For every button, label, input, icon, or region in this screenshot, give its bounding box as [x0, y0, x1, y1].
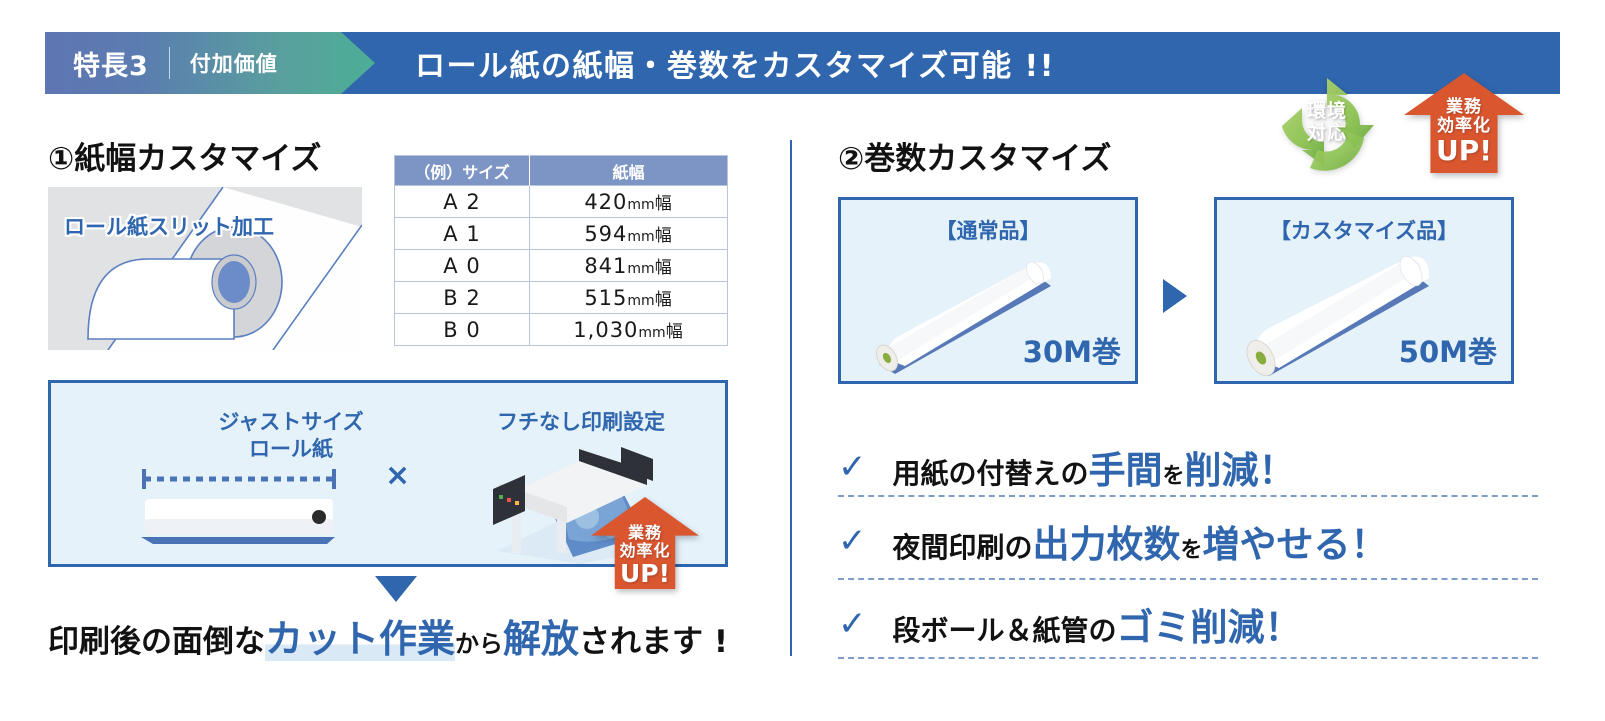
benefit-item-3: ✓ 段ボール＆紙管のゴミ削減！ — [838, 589, 1538, 659]
column-header-width: 紙幅 — [530, 156, 728, 186]
feature-number-label: 特長3 — [73, 44, 149, 83]
width-unit: mm — [638, 325, 665, 341]
cell-size: A 0 — [395, 250, 530, 282]
just-size-line1: ジャストサイズ — [218, 410, 363, 434]
check-icon: ✓ — [838, 524, 867, 558]
table-body: A 2420mm幅A 1594mm幅A 0841mm幅B 2515mm幅B 01… — [395, 186, 728, 346]
up-left-line2: 効率化 — [619, 542, 670, 560]
cell-size: A 2 — [395, 186, 530, 218]
feature-tag: 特長3 付加価値 — [45, 32, 375, 94]
width-unit: mm — [627, 197, 654, 213]
borderless-print-label: フチなし印刷設定 — [451, 409, 711, 436]
just-size-roll-label: ジャストサイズ ロール紙 — [181, 409, 401, 464]
benefit-1-pre: 用紙の付替えの — [893, 457, 1089, 490]
product-length-standard: 30M巻 — [1023, 329, 1121, 371]
width-value: 841 — [584, 254, 627, 278]
width-unit: mm — [627, 229, 654, 245]
product-title-customized: 【カスタマイズ品】 — [1217, 215, 1511, 245]
conclusion-highlight1: カット作業 — [265, 617, 455, 661]
benefit-3-hl1: ゴミ削減！ — [1117, 606, 1302, 649]
section-2-heading: ②巻数カスタマイズ — [838, 133, 1111, 178]
cell-width: 841mm幅 — [530, 250, 728, 282]
benefit-item-1: ✓ 用紙の付替えの手間を削減！ — [838, 432, 1538, 502]
roll-photo-label: ロール紙スリット加工 — [64, 211, 274, 241]
width-suffix: 幅 — [655, 194, 673, 214]
benefit-1-hl2: 削減！ — [1185, 449, 1296, 492]
table-row: B 01,030mm幅 — [395, 314, 728, 346]
column-header-size: （例）サイズ — [395, 156, 530, 186]
cell-width: 1,030mm幅 — [530, 314, 728, 346]
benefit-divider-2 — [838, 578, 1538, 580]
up-badge-left: 業務 効率化 UP! — [591, 497, 699, 589]
cell-width: 420mm幅 — [530, 186, 728, 218]
section-1-conclusion: 印刷後の面倒なカット作業から解放されます ! — [48, 608, 758, 663]
table-row: A 2420mm幅 — [395, 186, 728, 218]
up-right-line1: 業務 — [1446, 99, 1482, 117]
benefit-text-3: 段ボール＆紙管のゴミ削減！ — [893, 597, 1302, 651]
width-unit: mm — [627, 293, 654, 309]
up-right-line3: UP! — [1436, 137, 1492, 165]
conclusion-part3: されます ! — [579, 624, 728, 660]
product-title-standard: 【通常品】 — [841, 215, 1135, 245]
cell-width: 515mm幅 — [530, 282, 728, 314]
up-badge-text: 業務 効率化 UP! — [1404, 73, 1524, 173]
check-icon: ✓ — [838, 607, 867, 641]
eco-badge: 環境 対応 — [1268, 70, 1386, 176]
width-suffix: 幅 — [655, 226, 673, 246]
product-box-standard: 【通常品】 30M巻 — [838, 197, 1138, 384]
product-box-customized: 【カスタマイズ品】 50M巻 — [1214, 197, 1514, 384]
up-left-line1: 業務 — [628, 525, 662, 542]
up-left-line3: UP! — [620, 561, 670, 586]
width-suffix: 幅 — [655, 290, 673, 310]
benefit-1-mid: を — [1163, 464, 1185, 489]
eco-line1: 環境 — [1307, 101, 1347, 123]
tag-divider — [169, 47, 170, 79]
up-badge-text: 業務 効率化 UP! — [591, 497, 699, 589]
width-suffix: 幅 — [666, 322, 684, 342]
paper-size-table: （例）サイズ 紙幅 A 2420mm幅A 1594mm幅A 0841mm幅B 2… — [394, 155, 728, 346]
up-badge-right: 業務 効率化 UP! — [1404, 73, 1524, 173]
benefit-3-pre: 段ボール＆紙管の — [893, 614, 1117, 647]
width-value: 1,030 — [573, 318, 638, 342]
table-row: B 2515mm幅 — [395, 282, 728, 314]
just-size-line2: ロール紙 — [249, 437, 333, 461]
cell-size: B 2 — [395, 282, 530, 314]
benefit-2-hl2: 増やせる！ — [1203, 523, 1388, 566]
width-value: 420 — [584, 190, 627, 214]
cell-size: B 0 — [395, 314, 530, 346]
benefit-text-2: 夜間印刷の出力枚数を増やせる！ — [893, 514, 1388, 568]
check-icon: ✓ — [838, 450, 867, 484]
benefit-item-2: ✓ 夜間印刷の出力枚数を増やせる！ — [838, 506, 1538, 576]
table-row: A 0841mm幅 — [395, 250, 728, 282]
benefit-2-hl1: 出力枚数 — [1033, 523, 1181, 566]
table-header-row: （例）サイズ 紙幅 — [395, 156, 728, 186]
multiply-operator: × — [385, 458, 410, 493]
benefit-2-mid: を — [1181, 538, 1203, 563]
benefit-1-hl1: 手間 — [1089, 449, 1163, 492]
width-unit: mm — [627, 261, 654, 277]
conclusion-part2: から — [455, 630, 503, 658]
down-arrow-icon — [375, 576, 417, 602]
arrow-right-icon — [1163, 279, 1187, 313]
table-row: A 1594mm幅 — [395, 218, 728, 250]
cell-size: A 1 — [395, 218, 530, 250]
column-divider — [790, 140, 792, 656]
width-value: 515 — [584, 286, 627, 310]
benefit-2-pre: 夜間印刷の — [893, 531, 1033, 564]
roll-slit-photo: ロール紙スリット加工 — [48, 187, 362, 350]
width-suffix: 幅 — [655, 258, 673, 278]
conclusion-highlight2: 解放 — [503, 617, 579, 661]
eco-badge-text: 環境 対応 — [1268, 70, 1386, 176]
product-length-customized: 50M巻 — [1399, 329, 1497, 371]
infographic-page: 特長3 付加価値 ロール紙の紙幅・巻数をカスタマイズ可能 !! ①紙幅カスタマイ… — [0, 0, 1605, 721]
page-title: ロール紙の紙幅・巻数をカスタマイズ可能 !! — [415, 41, 1055, 85]
conclusion-part1: 印刷後の面倒な — [48, 624, 265, 660]
eco-line2: 対応 — [1307, 123, 1347, 145]
just-size-roll-illustration — [139, 467, 339, 545]
width-value: 594 — [584, 222, 627, 246]
benefit-divider-3 — [838, 657, 1538, 659]
section-1-heading: ①紙幅カスタマイズ — [48, 133, 321, 178]
benefit-text-1: 用紙の付替えの手間を削減！ — [893, 440, 1296, 494]
feature-sub-label: 付加価値 — [190, 48, 278, 78]
cell-width: 594mm幅 — [530, 218, 728, 250]
benefit-divider-1 — [838, 495, 1538, 497]
